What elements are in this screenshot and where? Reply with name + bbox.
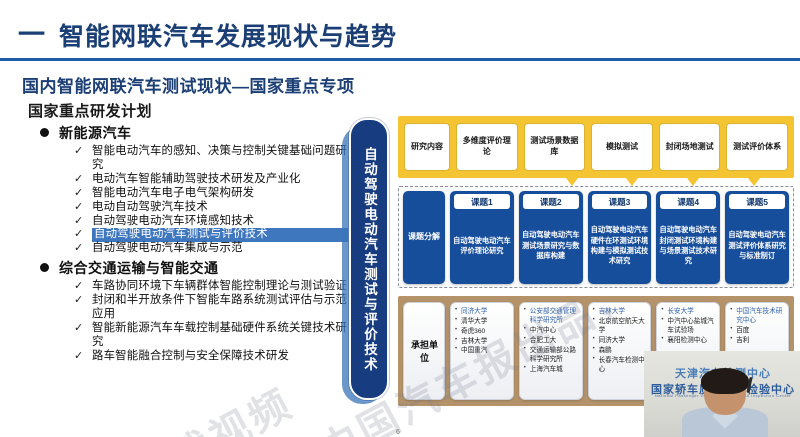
slide-title-row: 一 智能网联汽车发展现状与趋势 (0, 14, 800, 56)
check-icon: ✓ (74, 215, 88, 229)
bullet-icon (40, 128, 49, 137)
check-icon: ✓ (74, 201, 88, 215)
research-content-box: 多维度评价理论 (456, 123, 518, 171)
page-number: 6 (396, 429, 400, 436)
task-box-title: 课题5 (729, 194, 785, 209)
plan-group-label: 综合交通运输与智能交通 (59, 258, 219, 278)
institution-item: 襄阳检测中心 (661, 336, 716, 345)
plan-subitem: ✓封闭和半开放条件下智能车路系统测试评估与示范应用 (74, 294, 348, 322)
check-icon: ✓ (74, 280, 88, 294)
institution-item: 合肥工大 (524, 336, 579, 345)
presentation-slide: 中国汽车报出品， 严禁转载视频 一 智能网联汽车发展现状与趋势 国内智能网联汽车… (0, 0, 800, 437)
task-box-body: 自动驾驶电动汽车封闭测试环境构建与场景测试技术研究 (658, 211, 718, 281)
task-box-title: 课题2 (523, 194, 579, 209)
plan-subitem-text: 车路协同环境下车辆群体智能控制理论与测试验证 (92, 280, 348, 294)
plan-group-header: 综合交通运输与智能交通 (40, 258, 348, 278)
institution-row-header: 承担单位 (403, 302, 445, 400)
plan-group: 综合交通运输与智能交通✓车路协同环境下车辆群体智能控制理论与测试验证✓封闭和半开… (28, 258, 348, 363)
task-box-title: 课题4 (660, 194, 716, 209)
institution-box: 同济大学清华大学奇虎360吉林大学中国重汽 (450, 302, 514, 400)
institution-item: 中汽中心 (524, 326, 579, 335)
down-arrow-icon (748, 178, 760, 186)
task-box: 课题1自动驾驶电动汽车评价理论研究 (450, 191, 514, 284)
video-overlay[interactable]: 天津汽车检测中心 国家轿车质量监督检验中心 National Passenger… (644, 351, 800, 437)
plan-group-label: 新能源汽车 (59, 123, 132, 143)
plan-subitem-text: 路车智能融合控制与安全保障技术研发 (92, 350, 348, 364)
down-arrow-icon (566, 178, 578, 186)
plan-subitem: ✓自动驾驶电动汽车环境感知技术 (74, 215, 348, 229)
institution-item: 中国重汽 (455, 346, 510, 355)
institution-item: 长安大学 (661, 307, 716, 316)
plan-subitem-text: 封闭和半开放条件下智能车路系统测试评估与示范应用 (92, 294, 348, 322)
task-box-body: 自动驾驶电动汽车测试评价体系研究与标准制订 (727, 211, 787, 281)
plan-subitem-text: 自动驾驶电动汽车集成与示范 (92, 242, 348, 256)
plan-subitem: ✓智能新能源汽车车载控制基础硬件系统关键技术研究 (74, 322, 348, 350)
plan-group: 新能源汽车✓智能电动汽车的感知、决策与控制关键基础问题研究✓电动汽车智能辅助驾驶… (28, 123, 348, 256)
research-content-box: 测试场景数据库 (524, 123, 586, 171)
task-box-body: 课题分解 (405, 194, 443, 281)
chapter-marker: 一 (18, 22, 45, 49)
research-row-header: 研究内容 (404, 123, 450, 171)
check-icon: ✓ (74, 173, 88, 187)
check-icon: ✓ (74, 294, 88, 308)
check-icon: ✓ (74, 228, 88, 242)
plan-subitem-text: 自动驾驶电动汽车环境感知技术 (92, 215, 348, 229)
institution-box: 吉林大学北京航空航天大学同济大学森鹏长春汽车检测中心 (588, 302, 652, 400)
institution-item: 公安部交通管理科学研究所 (524, 307, 579, 326)
institution-list: 中国汽车技术研究中心百度吉利 (730, 307, 785, 345)
check-icon: ✓ (74, 145, 88, 159)
task-row: 课题分解课题1自动驾驶电动汽车评价理论研究课题2自动驾驶电动汽车测试场景研究与数… (403, 191, 789, 284)
down-arrow-icon (687, 178, 699, 186)
institution-item: 吉利 (730, 336, 785, 345)
institution-list: 公安部交通管理科学研究所中汽中心合肥工大交通运输部公路科学研究所上海汽车城 (524, 307, 579, 375)
task-box-title: 课题3 (592, 194, 648, 209)
vertical-banner-wrap: 自动驾驶电动汽车测试与评价技术 (349, 118, 389, 400)
research-content-box: 测试评价体系 (726, 123, 788, 171)
task-box-body: 自动驾驶电动汽车测试场景研究与数据库构建 (521, 211, 581, 281)
task-box: 课题4自动驾驶电动汽车封闭测试环境构建与场景测试技术研究 (656, 191, 720, 284)
research-content-row: 研究内容多维度评价理论测试场景数据库模拟测试封闭场地测试测试评价体系 (404, 123, 788, 171)
task-box-body: 自动驾驶电动汽车硬件在环测试环境构建与模拟测试技术研究 (590, 211, 650, 281)
task-box-body: 自动驾驶电动汽车评价理论研究 (452, 211, 512, 281)
research-content-box: 封闭场地测试 (659, 123, 721, 171)
plan-subitem: ✓智能电动汽车电子电气架构研发 (74, 187, 348, 201)
plan-subitem: ✓电动汽车智能辅助驾驶技术研发及产业化 (74, 173, 348, 187)
bullet-icon (40, 263, 49, 272)
task-row-header: 课题分解 (403, 191, 445, 284)
down-arrow-icon (626, 178, 638, 186)
institution-item: 奇虎360 (455, 327, 510, 336)
plan-group-header: 新能源汽车 (40, 123, 348, 143)
plan-subitem: ✓自动驾驶电动汽车测试与评价技术 (74, 228, 348, 242)
institution-item: 中国汽车技术研究中心 (730, 307, 785, 326)
watermark-text-b: 严禁转载视频 (42, 371, 302, 437)
check-icon: ✓ (74, 350, 88, 364)
section-heading: 国内智能网联汽车测试现状—国家重点专项 (22, 72, 355, 97)
institution-item: 同济大学 (593, 336, 648, 345)
institution-item: 长春汽车检测中心 (593, 356, 648, 375)
plan-subitem-text: 自动驾驶电动汽车测试与评价技术 (92, 228, 348, 242)
institution-item: 吉林大学 (593, 307, 648, 316)
plan-subitem-text: 智能电动汽车的感知、决策与控制关键基础问题研究 (92, 145, 348, 173)
check-icon: ✓ (74, 187, 88, 201)
plan-subitem: ✓自动驾驶电动汽车集成与示范 (74, 242, 348, 256)
check-icon: ✓ (74, 242, 88, 256)
vertical-banner-label: 自动驾驶电动汽车测试与评价技术 (349, 118, 389, 400)
plan-subitem-text: 智能新能源汽车车载控制基础硬件系统关键技术研究 (92, 322, 348, 350)
institution-list: 长安大学中汽中心盐城汽车试验场襄阳检测中心 (661, 307, 716, 345)
plan-subitem: ✓车路协同环境下车辆群体智能控制理论与测试验证 (74, 280, 348, 294)
institution-item: 同济大学 (455, 307, 510, 316)
institution-list: 吉林大学北京航空航天大学同济大学森鹏长春汽车检测中心 (593, 307, 648, 375)
institution-item: 中汽中心盐城汽车试验场 (661, 317, 716, 336)
task-box-title: 课题1 (454, 194, 510, 209)
institution-box: 公安部交通管理科学研究所中汽中心合肥工大交通运输部公路科学研究所上海汽车城 (519, 302, 583, 400)
plan-subitem-list: ✓车路协同环境下车辆群体智能控制理论与测试验证✓封闭和半开放条件下智能车路系统测… (74, 280, 348, 363)
task-box: 课题2自动驾驶电动汽车测试场景研究与数据库构建 (519, 191, 583, 284)
institution-item: 森鹏 (593, 346, 648, 355)
institution-item: 百度 (730, 326, 785, 335)
national-plan-list: 国家重点研发计划 新能源汽车✓智能电动汽车的感知、决策与控制关键基础问题研究✓电… (28, 100, 348, 364)
speaker-figure (690, 371, 760, 437)
title-divider (0, 58, 800, 61)
page-title: 智能网联汽车发展现状与趋势 (59, 17, 397, 53)
plan-subitem: ✓电动自动驾驶汽车技术 (74, 201, 348, 215)
research-content-box: 模拟测试 (591, 123, 653, 171)
plan-subitem-text: 智能电动汽车电子电气架构研发 (92, 187, 348, 201)
plan-subitem: ✓路车智能融合控制与安全保障技术研发 (74, 350, 348, 364)
check-icon: ✓ (74, 322, 88, 336)
plan-subitem-text: 电动自动驾驶汽车技术 (92, 201, 348, 215)
institution-item: 清华大学 (455, 317, 510, 326)
plan-subitem-text: 电动汽车智能辅助驾驶技术研发及产业化 (92, 173, 348, 187)
plan-subitem: ✓智能电动汽车的感知、决策与控制关键基础问题研究 (74, 145, 348, 173)
plan-subitem-list: ✓智能电动汽车的感知、决策与控制关键基础问题研究✓电动汽车智能辅助驾驶技术研发及… (74, 145, 348, 256)
institution-item: 上海汽车城 (524, 365, 579, 374)
institution-item: 吉林大学 (455, 337, 510, 346)
plan-groups: 新能源汽车✓智能电动汽车的感知、决策与控制关键基础问题研究✓电动汽车智能辅助驾驶… (28, 123, 348, 364)
plan-title: 国家重点研发计划 (28, 100, 348, 121)
institution-item: 北京航空航天大学 (593, 317, 648, 336)
institution-list: 同济大学清华大学奇虎360吉林大学中国重汽 (455, 307, 510, 356)
task-box: 课题5自动驾驶电动汽车测试评价体系研究与标准制订 (725, 191, 789, 284)
task-box: 课题3自动驾驶电动汽车硬件在环测试环境构建与模拟测试技术研究 (588, 191, 652, 284)
speaker-hair (701, 368, 749, 394)
institution-item: 交通运输部公路科学研究所 (524, 346, 579, 365)
